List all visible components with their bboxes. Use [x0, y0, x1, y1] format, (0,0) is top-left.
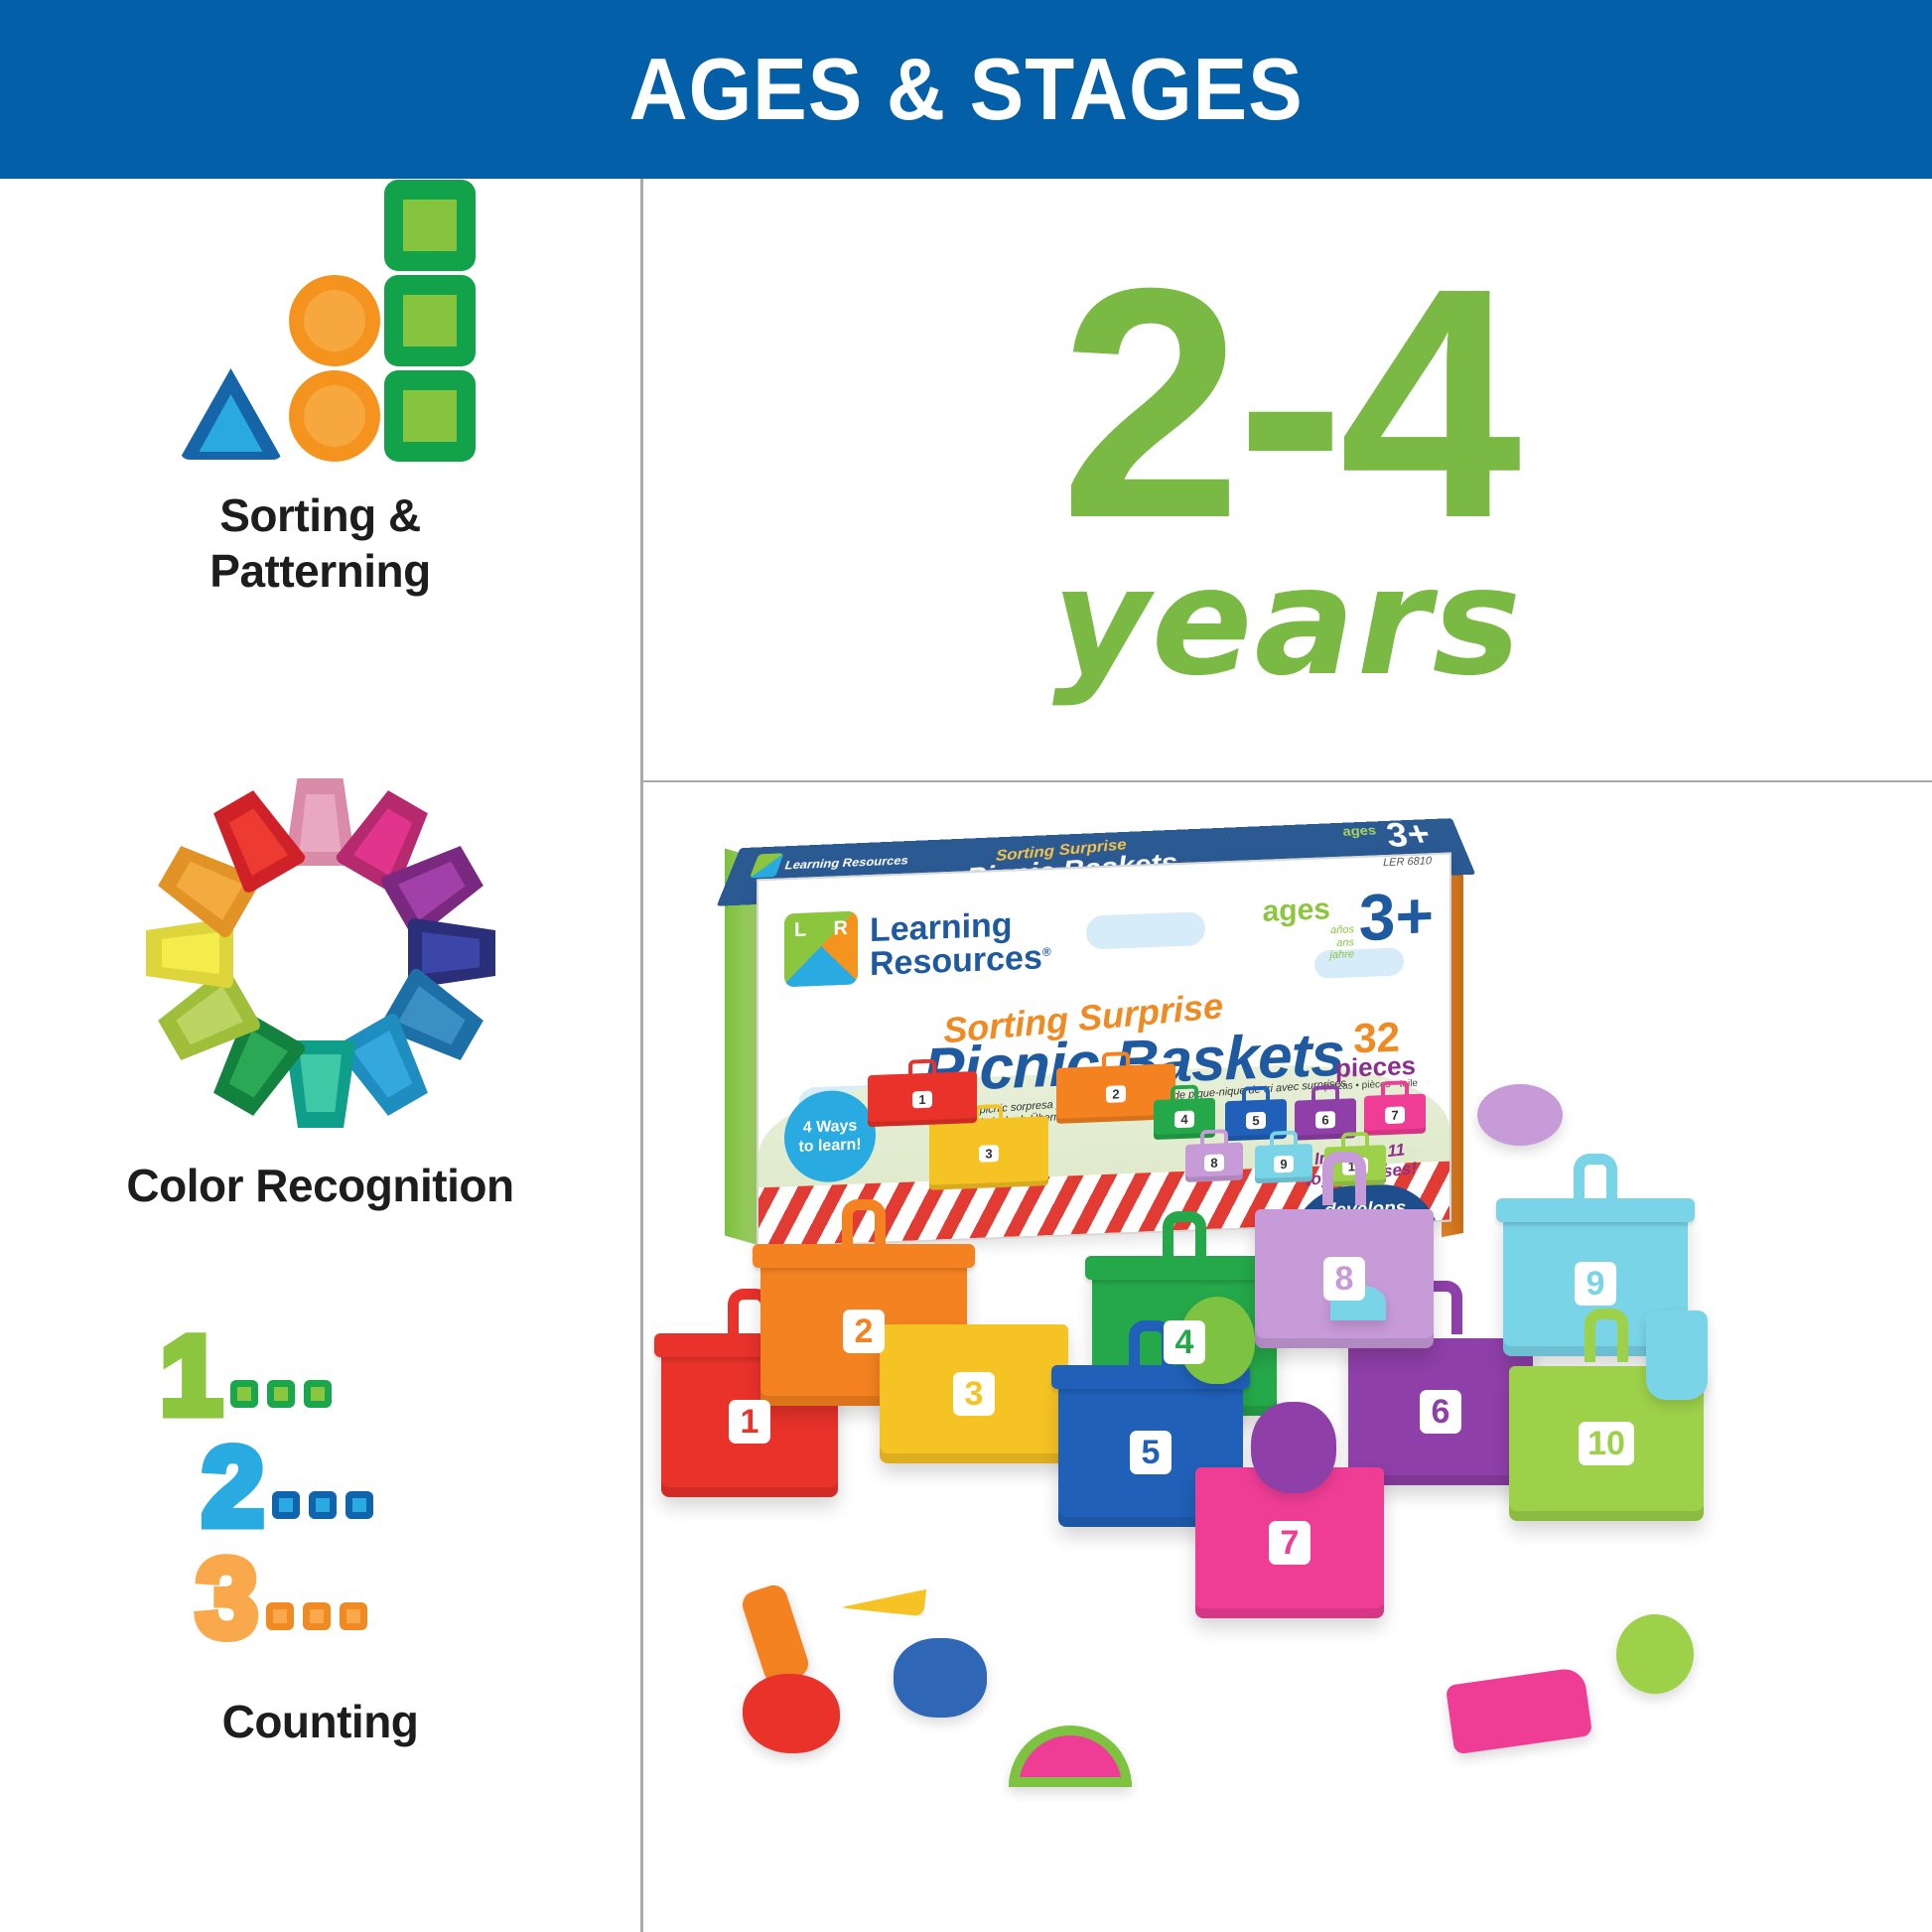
basket-number-label: 5	[1130, 1431, 1172, 1474]
feature-label-counting: Counting	[222, 1694, 419, 1749]
basket-lid	[1496, 1198, 1696, 1222]
basket-number-label: 2	[843, 1310, 885, 1353]
toy-food-pink-scoop	[1446, 1667, 1592, 1755]
lr-cube-icon	[750, 853, 784, 878]
toy-food-cheese-wedge	[839, 1543, 930, 1617]
feature-label-sorting: Sorting & Patterning	[209, 487, 430, 599]
box-ages-langs: añosansjahre	[1330, 923, 1354, 962]
basket-number-label: 4	[1164, 1320, 1205, 1364]
feature-label-sorting-line2: Patterning	[209, 543, 430, 599]
counting-row-1: 1	[161, 1330, 332, 1422]
feature-counting: 1 2 3 Counting	[0, 1330, 640, 1749]
lr-letter-l: L	[794, 919, 806, 942]
shapes-sorting-icon	[172, 189, 470, 462]
brand-logo: L R Learning Resources®	[784, 903, 1051, 987]
box-top-brand: Learning Resources	[783, 854, 909, 871]
basket-number-label: 6	[1420, 1390, 1461, 1434]
cloud-icon	[1086, 911, 1205, 950]
toy-food-popsicle	[739, 1582, 811, 1687]
feature-label-color-line1: Color Recognition	[126, 1158, 513, 1213]
lr-cube-icon: L R	[784, 911, 858, 988]
toy-food-donut	[1477, 1084, 1563, 1146]
toy-basket-3: 3	[880, 1324, 1068, 1463]
toy-basket-8: 8	[1255, 1209, 1434, 1348]
box-ages-label: ages	[1263, 893, 1330, 929]
loose-toy-pieces: 12345678910	[643, 1031, 1932, 1932]
basket-number-label: 9	[1575, 1262, 1616, 1306]
feature-color-recognition: Color Recognition	[0, 774, 640, 1213]
box-top-ages-label: ages	[1340, 823, 1378, 839]
feature-sorting-patterning: Sorting & Patterning	[0, 189, 640, 599]
feature-label-counting-line1: Counting	[222, 1694, 419, 1749]
basket-lid	[753, 1244, 976, 1268]
color-wheel-icon	[142, 774, 499, 1132]
box-ages-value: 3+	[1359, 877, 1434, 955]
counting-number-1: 1	[161, 1330, 222, 1422]
toy-food-cup	[1646, 1311, 1708, 1400]
ages-and-stages-infographic: AGES & STAGES Sorting & Patterning	[0, 0, 1932, 1932]
toy-food-blue-grapes	[894, 1638, 987, 1718]
toy-food-purple-grapes	[1251, 1402, 1336, 1493]
feature-label-color: Color Recognition	[126, 1158, 513, 1213]
skills-column: Sorting & Patterning Color Recognition 1…	[0, 179, 640, 1932]
product-photo-panel: Learning Resources Sorting Surprise Picn…	[643, 782, 1932, 1932]
age-range-value: 2-4	[1060, 262, 1516, 544]
counting-row-2: 2	[203, 1442, 373, 1533]
age-range-panel: 2-4 years	[643, 179, 1932, 780]
counting-numbers-icon: 1 2 3	[157, 1330, 484, 1668]
feature-label-sorting-line1: Sorting &	[209, 487, 430, 543]
counting-row-3: 3	[197, 1553, 367, 1644]
basket-number-label: 7	[1269, 1521, 1311, 1565]
toy-food-raspberry	[743, 1674, 840, 1753]
toy-food-green-apple	[1616, 1614, 1694, 1694]
brand-name-line2: Resources®	[870, 940, 1051, 981]
page-title: AGES & STAGES	[628, 39, 1303, 140]
basket-number-label: 10	[1579, 1422, 1634, 1465]
age-range-unit: years	[1052, 548, 1523, 697]
toy-basket-6: 6	[1348, 1338, 1533, 1485]
box-item-code: LER 6810	[1383, 855, 1432, 869]
lr-letter-r: R	[834, 917, 848, 941]
header-banner: AGES & STAGES	[0, 0, 1932, 179]
basket-number-label: 1	[729, 1400, 770, 1444]
brand-name: Learning Resources®	[870, 906, 1051, 981]
basket-handle	[1585, 1309, 1628, 1362]
toy-food-watermelon	[1009, 1725, 1132, 1787]
counting-number-2: 2	[203, 1442, 264, 1533]
basket-number-label: 3	[953, 1372, 995, 1416]
box-top-ages-value: 3+	[1380, 818, 1437, 856]
basket-number-label: 8	[1323, 1257, 1365, 1301]
basket-handle	[1322, 1152, 1366, 1205]
counting-number-3: 3	[197, 1553, 258, 1644]
